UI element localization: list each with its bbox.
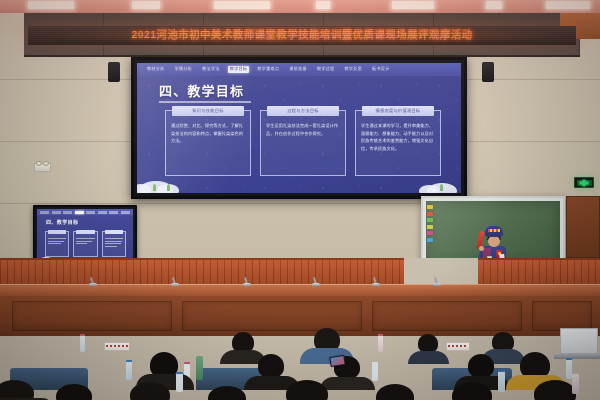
magnet-icon [427,238,433,242]
objective-box-group: 知识与技能目标 通过欣赏、对比、探究等方式，了解扎染技法的内容和特点，掌握扎染染… [165,110,441,176]
led-banner: 2021河池市初中美术教师课堂教学技能培训暨优质课现场展评观摩活动 [28,26,576,45]
slide-nav-bar: 教材分析 学情分析 教法学法 教学目标 教学重难点 课前准备 教学过程 教学反思… [137,63,461,76]
monitor-box [45,231,69,257]
ceiling-light [132,1,160,9]
monitor-box-group [45,231,126,257]
audience-head [208,386,246,400]
monitor-slide-title: 四、教学目标 [46,219,78,226]
ceiling-light [214,1,270,9]
presenter-hand [479,246,484,251]
microphone [89,278,97,286]
microphone [312,278,320,286]
slide-surface: 教材分析 学情分析 教法学法 教学目标 教学重难点 课前准备 教学过程 教学反思… [137,63,461,193]
slide-tab-7: 教学反思 [342,66,364,72]
slide-tab-8: 板书设计 [370,66,392,72]
audience-head [0,380,34,400]
wall-speaker [108,62,120,82]
slide-tab-4: 教学重难点 [255,66,281,72]
magnet-icon [427,225,433,229]
audience-head [452,382,492,400]
headdress-pattern [488,229,500,232]
water-bottle [572,374,579,394]
microphone [433,278,441,286]
ceiling-light [28,1,74,9]
objective-box: 知识与技能目标 通过欣赏、对比、探究等方式，了解扎染技法的内容和特点，掌握扎染染… [165,110,251,176]
ceiling-light [546,1,590,9]
wainscot-gap [404,258,478,284]
lecture-hall-scene: 2021河池市初中美术教师课堂教学技能培训暨优质课现场展评观摩活动 教材分析 学… [0,0,600,400]
slide-title: 四、教学目标 [159,85,244,98]
slide-tab-2: 教法学法 [200,66,222,72]
ceiling [0,0,600,13]
objective-body: 学生运用扎染技法完成一套扎染设计作品，并在创作过程中合作探究。 [266,122,340,137]
slide-tab-0: 教材分析 [145,66,167,72]
ceiling-light [392,1,434,9]
objective-heading: 情感态度与价值观目标 [362,106,434,116]
sprout-decoration [153,184,156,191]
laptop [560,328,598,354]
ceiling-light [486,1,502,9]
slide-body: 四、教学目标 知识与技能目标 通过欣赏、对比、探究等方式，了解扎染技法的内容和特… [137,76,461,193]
audience-head [376,384,414,400]
magnet-group [427,205,433,242]
slide-tab-3: 教学目标 [228,66,250,72]
banner-text: 2021河池市初中美术教师课堂教学技能培训暨优质课现场展评观摩活动 [131,30,472,41]
audience-head [130,382,170,400]
audience-row-near [0,366,600,400]
objective-heading: 过程与方法目标 [267,106,339,116]
water-bottle [498,370,505,392]
magnet-icon [427,231,433,235]
magnet-icon [427,212,433,216]
ceiling-light [316,1,330,9]
monitor-box [73,231,97,257]
magnet-icon [427,218,433,222]
name-placard [446,342,470,351]
objective-heading: 知识与技能目标 [172,106,244,116]
monitor-slide: 四、教学目标 [37,209,133,263]
audience-head [56,384,92,400]
sprout-decoration [167,184,170,191]
emergency-light-icon [34,163,51,172]
wall-speaker [482,62,494,82]
objective-box: 情感态度与价值观目标 学生通过本课的学习，提升审美能力、观察能力、想象能力、动手… [355,110,441,176]
water-bottle [176,372,183,392]
slide-tab-6: 教学过程 [315,66,337,72]
monitor-box [102,231,126,257]
audience-head [286,380,328,400]
microphone [372,278,380,286]
microphone [171,278,179,286]
exit-sign-icon [574,177,594,188]
name-placard [104,342,130,351]
water-bottle [80,334,85,352]
slide-tab-5: 课前准备 [287,66,309,72]
sprout-decoration [440,184,443,191]
magnet-icon [427,205,433,209]
title-underline [159,101,251,103]
slide-tab-1: 学情分析 [173,66,195,72]
side-door [566,196,600,258]
objective-body: 学生通过本课的学习，提升审美能力、观察能力、想象能力、动手能力以及对民族传统艺术… [361,122,435,152]
monitor-nav-bar [37,209,133,215]
microphone [243,278,251,286]
objective-box: 过程与方法目标 学生运用扎染技法完成一套扎染设计作品，并在创作过程中合作探究。 [260,110,346,176]
projection-screen: 教材分析 学情分析 教法学法 教学目标 教学重难点 课前准备 教学过程 教学反思… [131,57,467,199]
audience-head [534,380,576,400]
water-bottle [378,334,383,352]
objective-body: 通过欣赏、对比、探究等方式，了解扎染技法的内容和特点，掌握扎染染色的方法。 [171,122,245,145]
